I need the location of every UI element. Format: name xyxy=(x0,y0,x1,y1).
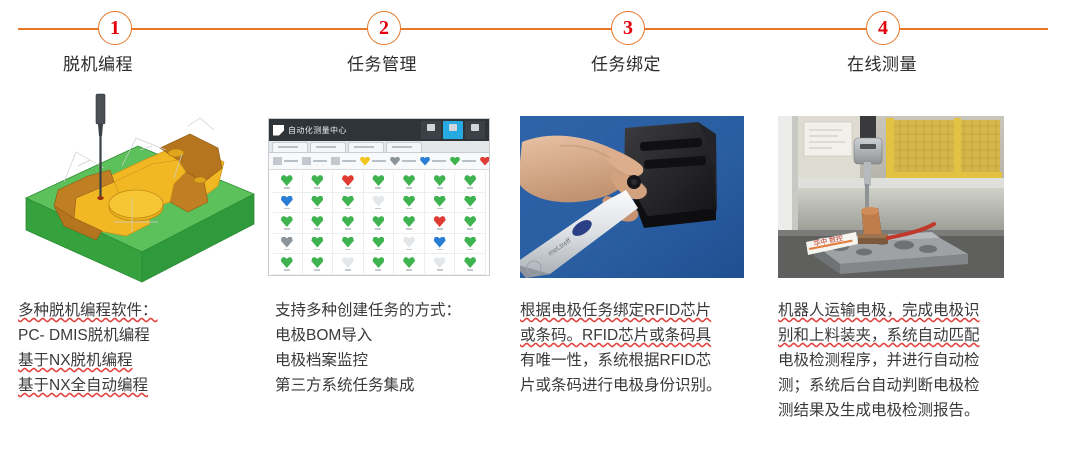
electrode-cell-label xyxy=(314,269,320,271)
electrode-cell-label xyxy=(437,269,443,271)
ribbon-item-5[interactable] xyxy=(390,157,416,166)
description-line: 电极BOM导入 xyxy=(275,323,515,348)
status-heart-icon-ok xyxy=(342,216,354,227)
description-line: 根据电极任务绑定RFID芯片 xyxy=(520,298,752,323)
step-heading-2: 任务管理 xyxy=(347,50,417,75)
description-line: 机器人运输电极，完成电极识 xyxy=(778,298,1018,323)
toolbar-button-3[interactable] xyxy=(465,121,485,139)
description-line: 多种脱机编程软件： xyxy=(18,298,254,323)
step-descriptions: 多种脱机编程软件：PC- DMIS脱机编程基于NX脱机编程基于NX全自动编程 支… xyxy=(0,298,1066,448)
electrode-cell[interactable] xyxy=(272,213,303,234)
electrode-cell-label xyxy=(467,269,473,271)
electrode-cell[interactable] xyxy=(303,172,334,193)
status-heart-icon-ok xyxy=(434,175,446,186)
step-marker-4[interactable]: 4 xyxy=(866,11,900,45)
ribbon-item-3[interactable] xyxy=(331,157,356,165)
step-marker-3[interactable]: 3 xyxy=(611,11,645,45)
description-line: 基于NX全自动编程 xyxy=(18,373,254,398)
step-heading-1: 脱机编程 xyxy=(63,50,133,75)
step-number-4: 4 xyxy=(878,18,888,38)
software-tab-2[interactable] xyxy=(310,142,346,152)
electrode-cell[interactable] xyxy=(394,193,425,214)
electrode-cell[interactable] xyxy=(272,193,303,214)
status-heart-icon-ok xyxy=(311,175,323,186)
electrode-cell-label xyxy=(375,269,381,271)
step-headings: 脱机编程 任务管理 任务绑定 在线测量 xyxy=(0,50,1066,80)
step-marker-1[interactable]: 1 xyxy=(98,11,132,45)
description-line: 测；系统后台自动判断电极检 xyxy=(778,373,1018,398)
description-line: 电极档案监控 xyxy=(275,348,515,373)
offline-programming-cad-render xyxy=(18,90,262,288)
electrode-cell-label xyxy=(375,228,381,230)
status-heart-icon-running xyxy=(281,196,293,207)
description-line: 支持多种创建任务的方式： xyxy=(275,298,515,323)
status-heart-icon-ok xyxy=(403,196,415,207)
cad-render-svg xyxy=(18,90,262,288)
status-heart-icon-alarm xyxy=(342,175,354,186)
status-heart-icon-ok xyxy=(403,175,415,186)
ribbon-item-6[interactable] xyxy=(420,157,446,166)
status-heart-icon-ok xyxy=(311,257,323,268)
electrode-cell-label xyxy=(284,228,290,230)
step-heading-3: 任务绑定 xyxy=(591,50,661,75)
electrode-cell-label xyxy=(284,187,290,189)
status-heart-icon-ok xyxy=(464,196,476,207)
status-heart-icon-idle xyxy=(372,196,384,207)
electrode-cell-label xyxy=(345,249,351,251)
status-heart-icon-ok xyxy=(342,196,354,207)
ribbon-label xyxy=(342,160,356,162)
electrode-cell[interactable] xyxy=(333,254,364,275)
description-line: 电极检测程序，并进行自动检 xyxy=(778,348,1018,373)
ribbon-item-4[interactable] xyxy=(360,157,386,166)
description-line: 别和上料装夹，系统自动匹配 xyxy=(778,323,1018,348)
electrode-cell-label xyxy=(314,187,320,189)
software-tab-1[interactable] xyxy=(272,142,308,152)
status-heart-icon-ok xyxy=(372,237,384,248)
steps-timeline: 1 2 3 4 xyxy=(0,0,1066,48)
app-logo-icon xyxy=(273,125,284,136)
electrode-cell-label xyxy=(467,249,473,251)
electrode-cell-label xyxy=(375,187,381,189)
ribbon-label xyxy=(372,160,386,162)
electrode-cell-label xyxy=(437,187,443,189)
description-line: 片或条码进行电极身份识别。 xyxy=(520,373,752,398)
electrode-cell-label xyxy=(437,228,443,230)
electrode-cell-label xyxy=(406,249,412,251)
electrode-cell[interactable] xyxy=(364,254,395,275)
electrode-cell[interactable] xyxy=(364,172,395,193)
status-heart-icon-idle xyxy=(403,237,415,248)
electrode-cell[interactable] xyxy=(394,172,425,193)
online-measurement-description: 机器人运输电极，完成电极识别和上料装夹，系统自动匹配电极检测程序，并进行自动检测… xyxy=(778,298,1018,423)
ribbon-label xyxy=(402,160,416,162)
heart-icon-red xyxy=(480,157,490,166)
electrode-cell[interactable] xyxy=(394,213,425,234)
electrode-cell-label xyxy=(406,187,412,189)
ribbon-item-1[interactable] xyxy=(273,157,298,165)
rfid-photo-svg: meLtreff xyxy=(520,116,744,278)
generic-icon xyxy=(331,157,340,165)
status-heart-icon-ok xyxy=(281,257,293,268)
electrode-cell[interactable] xyxy=(272,254,303,275)
electrode-cell-label xyxy=(406,208,412,210)
status-heart-icon-running xyxy=(434,237,446,248)
electrode-cell-label xyxy=(314,228,320,230)
offline-programming-description: 多种脱机编程软件：PC- DMIS脱机编程基于NX脱机编程基于NX全自动编程 xyxy=(18,298,254,398)
status-heart-icon-alarm xyxy=(434,216,446,227)
cmm-photo-svg: 华中 数控 xyxy=(778,116,1004,278)
electrode-cell[interactable] xyxy=(455,193,486,214)
ribbon-item-7[interactable] xyxy=(450,157,476,166)
status-heart-icon-ok xyxy=(342,237,354,248)
electrode-cell[interactable] xyxy=(303,254,334,275)
status-heart-icon-ok xyxy=(311,237,323,248)
electrode-cell-label xyxy=(314,208,320,210)
electrode-cell-label xyxy=(284,269,290,271)
status-heart-icon-ok xyxy=(464,257,476,268)
description-line: 有唯一性，系统根据RFID芯 xyxy=(520,348,752,373)
description-line: 第三方系统任务集成 xyxy=(275,373,515,398)
electrode-cell[interactable] xyxy=(455,172,486,193)
electrode-cell-label xyxy=(345,208,351,210)
software-tabstrip[interactable] xyxy=(269,141,489,153)
description-line: PC- DMIS脱机编程 xyxy=(18,323,254,348)
generic-icon xyxy=(302,157,311,165)
electrode-cell[interactable] xyxy=(303,213,334,234)
description-line: 测结果及生成电极检测报告。 xyxy=(778,398,1018,423)
software-titlebar: 自动化测量中心 xyxy=(269,119,489,141)
status-heart-icon-ok xyxy=(464,175,476,186)
status-heart-icon-idle xyxy=(434,257,446,268)
status-heart-icon-ok xyxy=(372,257,384,268)
software-ribbon[interactable] xyxy=(269,153,489,170)
electrode-cell[interactable] xyxy=(272,172,303,193)
ribbon-label xyxy=(313,160,327,162)
status-heart-icon-ok xyxy=(372,175,384,186)
step-heading-4: 在线测量 xyxy=(847,50,917,75)
step-number-1: 1 xyxy=(110,18,120,38)
toolbar-button-2-active[interactable] xyxy=(443,121,463,139)
ribbon-label xyxy=(284,160,298,162)
electrode-cell[interactable] xyxy=(425,234,456,255)
status-heart-icon-ok xyxy=(403,216,415,227)
electrode-cell[interactable] xyxy=(303,193,334,214)
ribbon-label xyxy=(462,160,476,162)
electrode-cell-label xyxy=(314,249,320,251)
step-number-2: 2 xyxy=(379,18,389,38)
step-marker-2[interactable]: 2 xyxy=(367,11,401,45)
electrode-cell[interactable] xyxy=(303,234,334,255)
electrode-cell-label xyxy=(406,228,412,230)
generic-icon xyxy=(273,157,282,165)
software-window-title: 自动化测量中心 xyxy=(288,125,419,136)
status-heart-icon-ok xyxy=(434,196,446,207)
task-management-software-window[interactable]: 自动化测量中心 xyxy=(268,118,490,276)
ribbon-label xyxy=(432,160,446,162)
electrode-cell[interactable] xyxy=(425,213,456,234)
electrode-cell[interactable] xyxy=(333,193,364,214)
electrode-cell-label xyxy=(437,249,443,251)
step-number-3: 3 xyxy=(623,18,633,38)
ribbon-item-2[interactable] xyxy=(302,157,327,165)
electrode-cell[interactable] xyxy=(394,234,425,255)
electrode-status-grid[interactable] xyxy=(269,170,489,276)
electrode-cell-label xyxy=(375,249,381,251)
electrode-cell-label xyxy=(467,208,473,210)
status-heart-icon-ok xyxy=(311,216,323,227)
electrode-cell[interactable] xyxy=(455,234,486,255)
electrode-cell[interactable] xyxy=(425,193,456,214)
software-tab-3[interactable] xyxy=(348,142,384,152)
description-line: 基于NX脱机编程 xyxy=(18,348,254,373)
status-heart-icon-ok xyxy=(464,216,476,227)
electrode-cell-label xyxy=(467,187,473,189)
heart-icon-green xyxy=(450,157,460,166)
electrode-cell-label xyxy=(467,228,473,230)
electrode-cell-label xyxy=(284,208,290,210)
rfid-reader-photo: meLtreff xyxy=(520,116,744,278)
status-heart-icon-ok xyxy=(464,237,476,248)
toolbar-button-1[interactable] xyxy=(421,121,441,139)
status-heart-icon-idle xyxy=(342,257,354,268)
cmm-online-measurement-photo: 华中 数控 xyxy=(778,116,1004,278)
description-line: 或条码。RFID芯片或条码具 xyxy=(520,323,752,348)
electrode-cell-label xyxy=(375,208,381,210)
status-heart-icon-ok xyxy=(281,216,293,227)
electrode-cell[interactable] xyxy=(425,172,456,193)
status-heart-icon-ok xyxy=(281,175,293,186)
status-heart-icon-ok xyxy=(372,216,384,227)
heart-icon-grey xyxy=(390,157,400,166)
electrode-cell[interactable] xyxy=(272,234,303,255)
heart-icon-blue xyxy=(420,157,430,166)
electrode-cell-label xyxy=(345,187,351,189)
electrode-cell[interactable] xyxy=(455,254,486,275)
electrode-cell-label xyxy=(345,228,351,230)
task-binding-description: 根据电极任务绑定RFID芯片或条码。RFID芯片或条码具有唯一性，系统根据RFI… xyxy=(520,298,752,398)
electrode-cell[interactable] xyxy=(364,213,395,234)
status-heart-icon-ok xyxy=(403,257,415,268)
electrode-cell-label xyxy=(406,269,412,271)
heart-icon-yellow xyxy=(360,157,370,166)
electrode-cell[interactable] xyxy=(333,234,364,255)
electrode-cell[interactable] xyxy=(333,213,364,234)
electrode-cell[interactable] xyxy=(425,254,456,275)
electrode-cell[interactable] xyxy=(394,254,425,275)
task-management-description: 支持多种创建任务的方式：电极BOM导入电极档案监控第三方系统任务集成 xyxy=(275,298,515,398)
electrode-cell[interactable] xyxy=(333,172,364,193)
status-heart-icon-grey xyxy=(281,237,293,248)
electrode-cell-label xyxy=(345,269,351,271)
electrode-cell-label xyxy=(437,208,443,210)
software-tab-4[interactable] xyxy=(386,142,422,152)
ribbon-item-8[interactable] xyxy=(480,157,490,166)
step-figures: 自动化测量中心 xyxy=(0,88,1066,288)
electrode-cell-label xyxy=(284,249,290,251)
electrode-cell[interactable] xyxy=(364,193,395,214)
status-heart-icon-ok xyxy=(311,196,323,207)
electrode-cell[interactable] xyxy=(455,213,486,234)
electrode-cell[interactable] xyxy=(364,234,395,255)
